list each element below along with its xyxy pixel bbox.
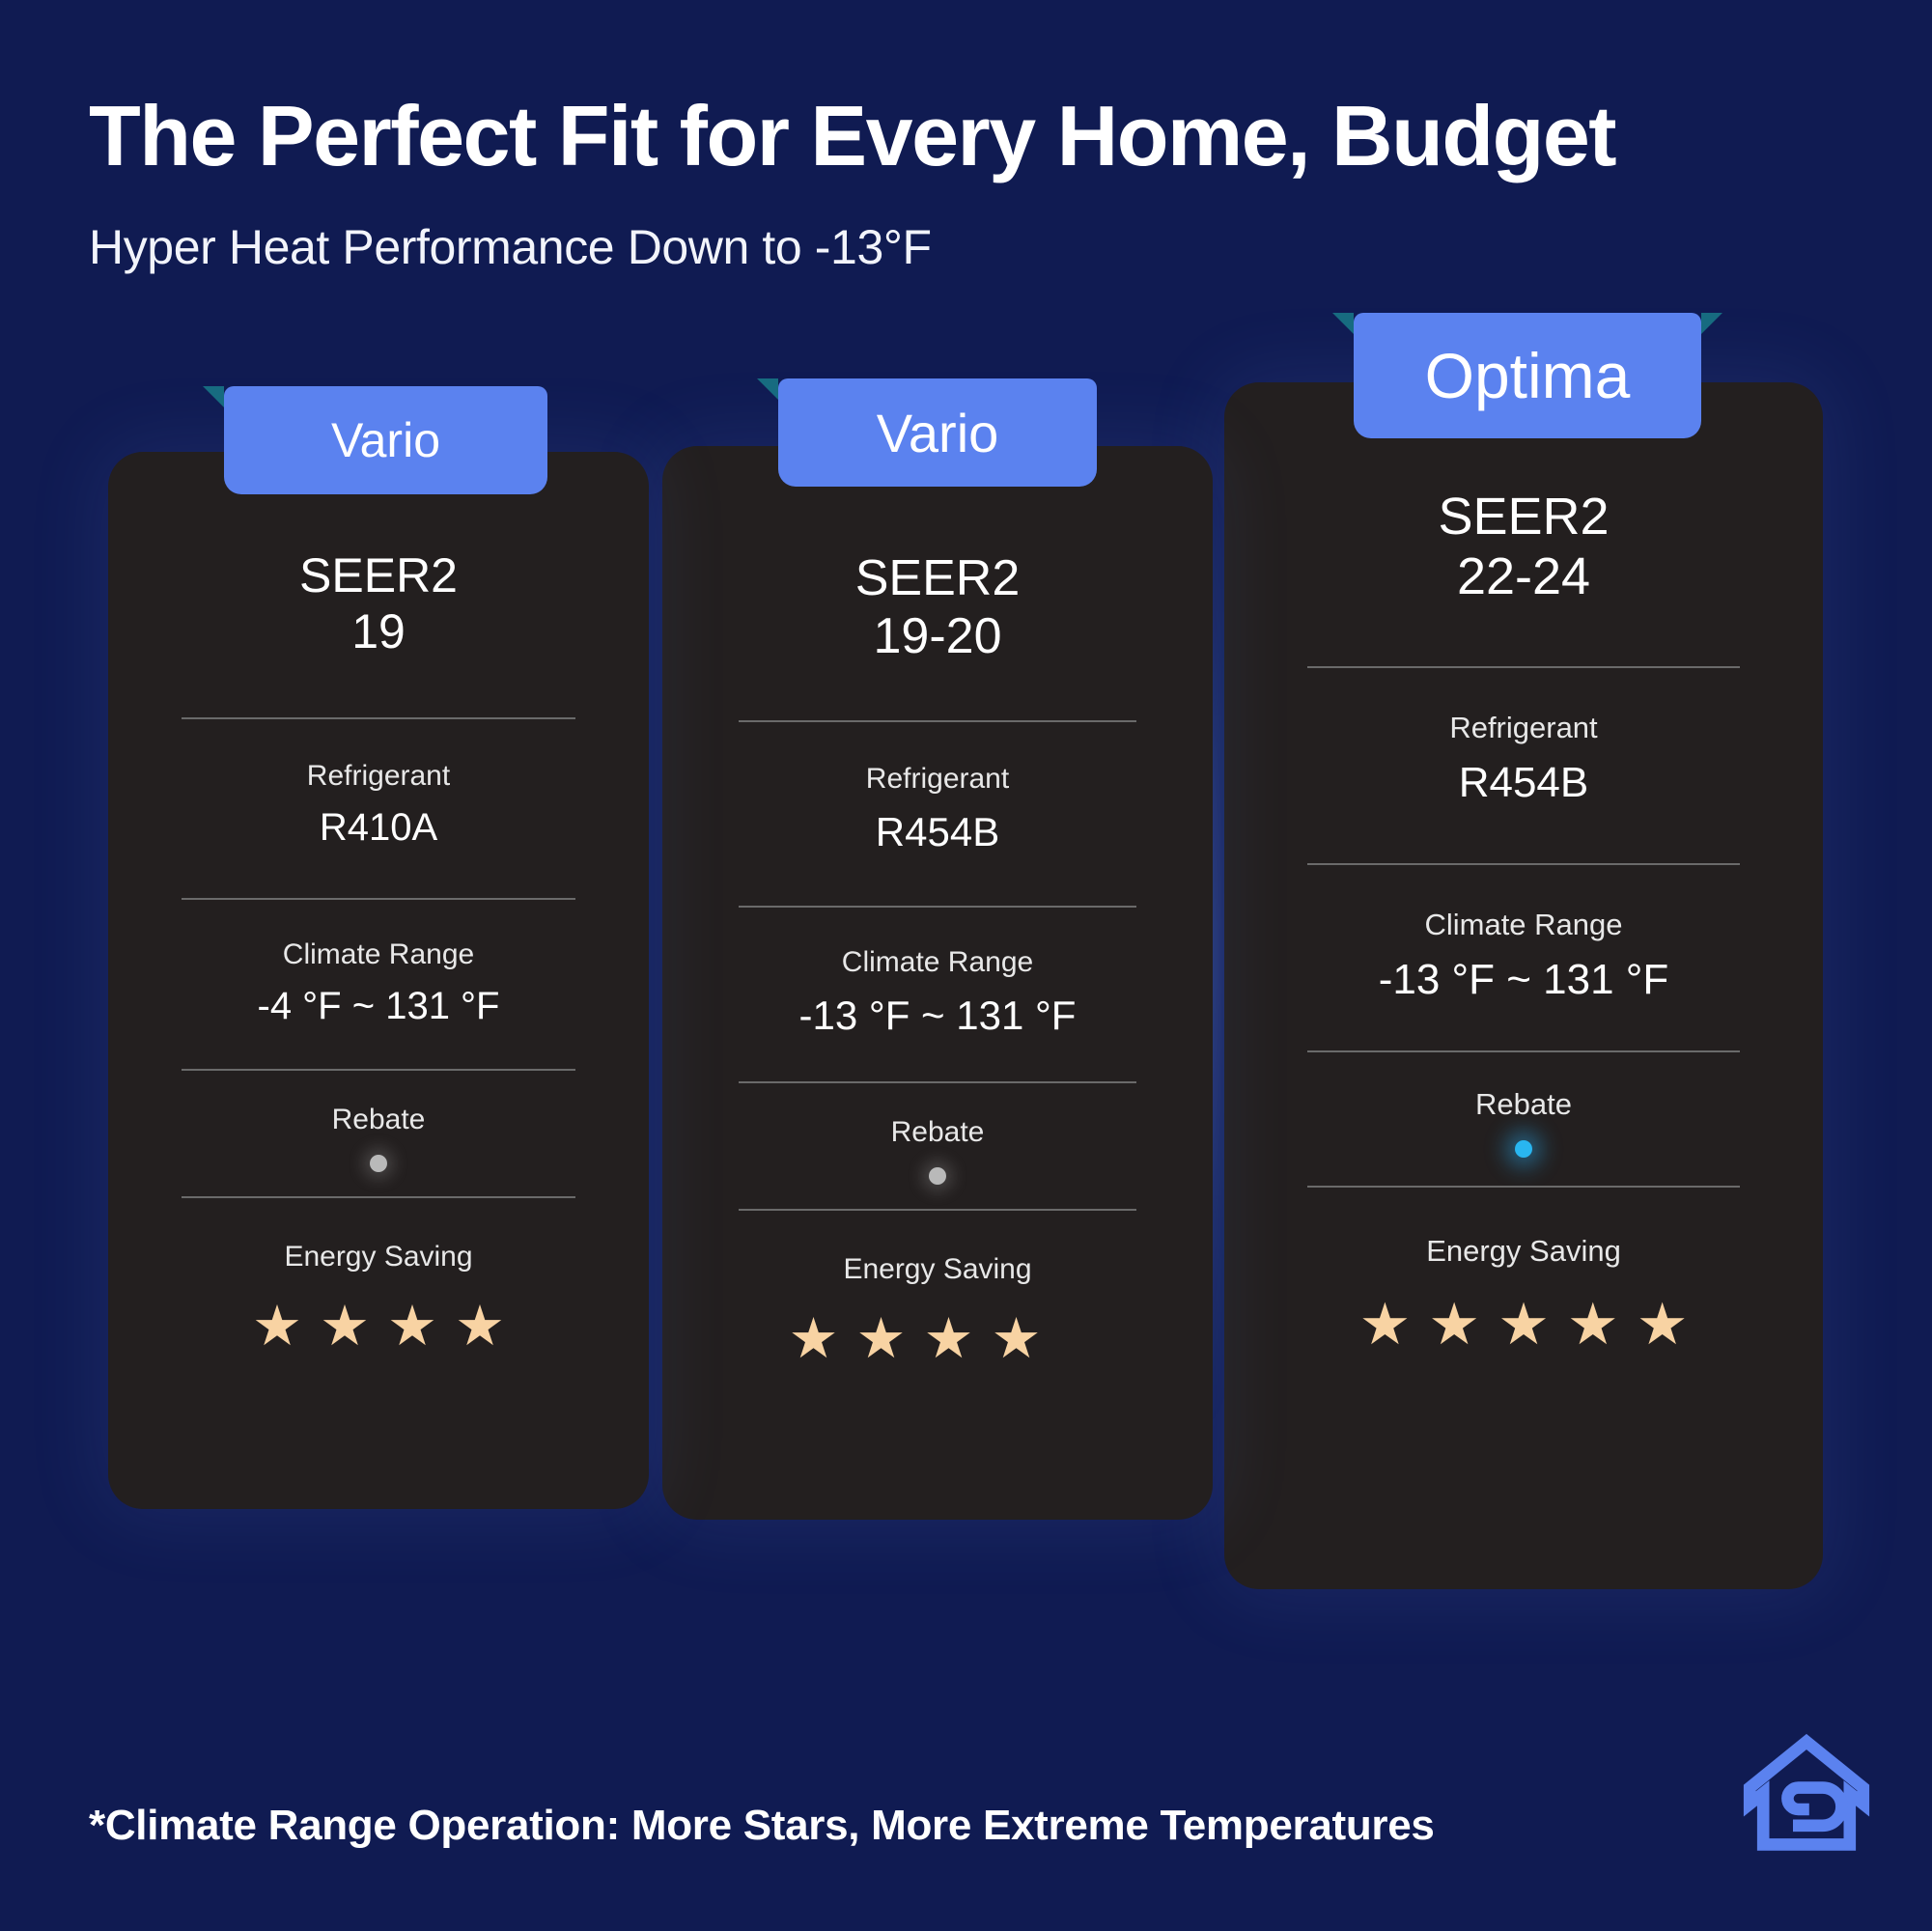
ribbon-fold-left-icon [203, 386, 224, 407]
spec-rebate: Rebate [1224, 1052, 1823, 1176]
home-logo-icon [1739, 1728, 1874, 1863]
product-card-vario-19[interactable]: SEER2 19 Refrigerant R410A Climate Range [108, 452, 649, 1509]
star-icon: ★ [789, 1311, 839, 1367]
spec-climate-range: Climate Range -4 °F ~ 131 °F [108, 900, 649, 1028]
star-icon: ★ [1637, 1296, 1689, 1354]
ribbon-fold-left-icon [1332, 313, 1354, 334]
rebate-label: Rebate [108, 1104, 649, 1136]
star-icon: ★ [455, 1299, 505, 1355]
header: The Perfect Fit for Every Home, Budget H… [89, 92, 1846, 275]
seer-block: SEER2 19-20 [855, 550, 1021, 666]
star-icon: ★ [856, 1311, 907, 1367]
seer-label: SEER2 [855, 550, 1021, 608]
star-icon: ★ [320, 1299, 370, 1355]
footnote: *Climate Range Operation: More Stars, Mo… [89, 1802, 1634, 1850]
refrigerant-value: R454B [662, 796, 1213, 855]
star-icon: ★ [1498, 1296, 1550, 1354]
climate-range-label: Climate Range [108, 938, 649, 971]
infographic-root: The Perfect Fit for Every Home, Budget H… [0, 0, 1932, 1931]
ribbon-label: Vario [877, 402, 999, 464]
star-icon: ★ [387, 1299, 437, 1355]
grey-dot-icon [929, 1167, 946, 1185]
star-icon: ★ [1359, 1296, 1412, 1354]
product-card-vario-19-20[interactable]: SEER2 19-20 Refrigerant R454B Climate Ra… [662, 446, 1213, 1520]
seer-value: 19-20 [855, 608, 1021, 666]
spec-rebate: Rebate [662, 1083, 1213, 1203]
star-icon: ★ [1428, 1296, 1480, 1354]
star-icon: ★ [252, 1299, 302, 1355]
spec-rebate: Rebate [108, 1071, 649, 1190]
ribbon-label: Optima [1425, 339, 1631, 412]
grey-dot-icon [370, 1155, 387, 1172]
energy-saving-label: Energy Saving [108, 1241, 649, 1273]
refrigerant-value: R454B [1224, 745, 1823, 807]
page-title: The Perfect Fit for Every Home, Budget [89, 92, 1846, 181]
refrigerant-label: Refrigerant [1224, 711, 1823, 745]
ribbon-badge-vario-1[interactable]: Vario [224, 386, 547, 494]
ribbon-label: Vario [331, 412, 440, 468]
star-rating: ★ ★ ★ ★ [108, 1273, 649, 1355]
climate-range-label: Climate Range [1224, 908, 1823, 942]
climate-range-value: -13 °F ~ 131 °F [1224, 942, 1823, 1004]
ribbon-fold-left-icon [757, 378, 778, 400]
rebate-label: Rebate [662, 1116, 1213, 1149]
spec-refrigerant: Refrigerant R410A [108, 719, 649, 850]
product-card-optima[interactable]: SEER2 22-24 Refrigerant R454B Climate Ra… [1224, 382, 1823, 1589]
ribbon-badge-vario-2[interactable]: Vario [778, 378, 1097, 487]
ribbon-badge-optima[interactable]: Optima [1354, 313, 1701, 438]
refrigerant-value: R410A [108, 793, 649, 850]
seer-value: 22-24 [1438, 546, 1609, 606]
seer-label: SEER2 [299, 548, 458, 604]
rebate-label: Rebate [1224, 1087, 1823, 1122]
seer-block: SEER2 22-24 [1438, 487, 1609, 606]
climate-range-label: Climate Range [662, 946, 1213, 979]
blue-dot-icon [1515, 1140, 1532, 1158]
star-icon: ★ [1567, 1296, 1619, 1354]
comparison-cards: SEER2 19 Refrigerant R410A Climate Range [0, 357, 1932, 1680]
star-icon: ★ [924, 1311, 974, 1367]
energy-saving-label: Energy Saving [662, 1253, 1213, 1286]
star-rating: ★ ★ ★ ★ ★ [662, 1286, 1213, 1367]
ribbon-fold-right-icon [1701, 313, 1722, 334]
seer-value: 19 [299, 604, 458, 660]
spec-climate-range: Climate Range -13 °F ~ 131 °F [662, 908, 1213, 1039]
seer-label: SEER2 [1438, 487, 1609, 546]
star-rating: ★ ★ ★ ★ ★ [1224, 1269, 1823, 1354]
page-subtitle: Hyper Heat Performance Down to -13°F [89, 219, 1846, 275]
refrigerant-label: Refrigerant [108, 760, 649, 793]
climate-range-value: -4 °F ~ 131 °F [108, 971, 649, 1028]
spec-refrigerant: Refrigerant R454B [1224, 668, 1823, 807]
energy-saving-label: Energy Saving [1224, 1234, 1823, 1269]
climate-range-value: -13 °F ~ 131 °F [662, 979, 1213, 1039]
spec-energy-saving: Energy Saving ★ ★ ★ ★ [108, 1198, 649, 1355]
spec-energy-saving: Energy Saving ★ ★ ★ ★ ★ [662, 1211, 1213, 1367]
spec-energy-saving: Energy Saving ★ ★ ★ ★ ★ [1224, 1188, 1823, 1354]
star-icon: ★ [992, 1311, 1042, 1367]
refrigerant-label: Refrigerant [662, 763, 1213, 796]
seer-block: SEER2 19 [299, 548, 458, 659]
spec-refrigerant: Refrigerant R454B [662, 722, 1213, 855]
spec-climate-range: Climate Range -13 °F ~ 131 °F [1224, 865, 1823, 1004]
